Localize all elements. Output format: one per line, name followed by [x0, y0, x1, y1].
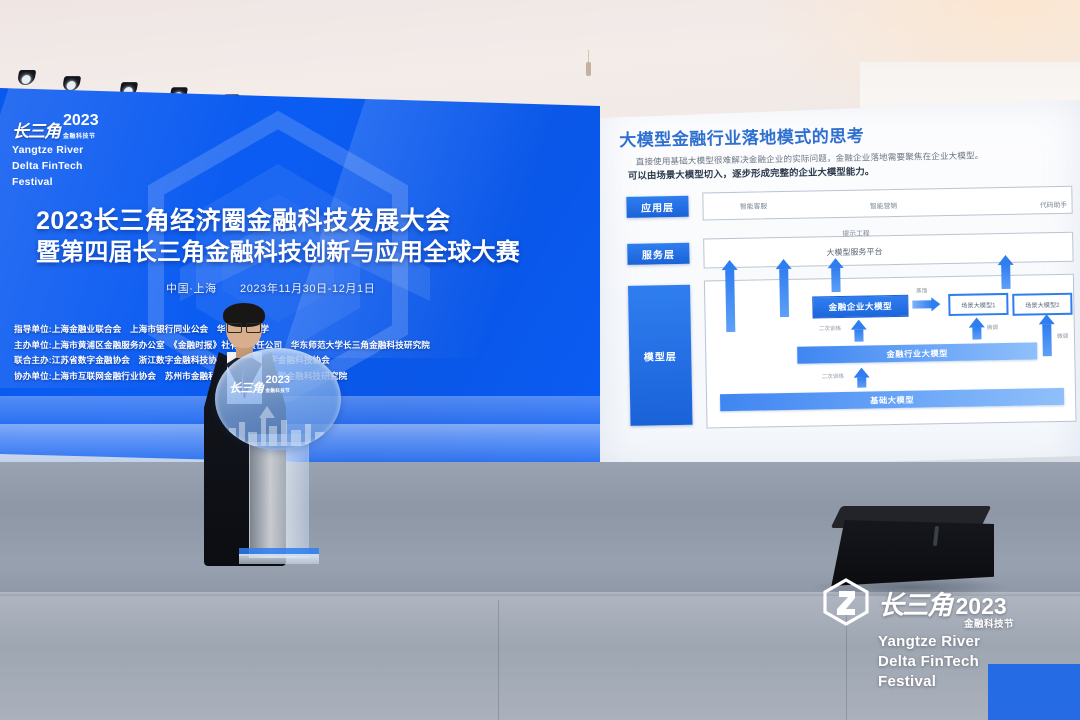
flow-arrow-up — [722, 260, 739, 332]
watermark-year: 2023 — [956, 595, 1007, 618]
application-item: 智能营销 — [848, 200, 918, 211]
festival-logo-cn-sub: 金融科技节 — [63, 131, 99, 140]
podium-emblem: 长三角 2023 金融科技节 — [215, 348, 341, 450]
service-item-platform: 大模型服务平台 — [799, 246, 909, 259]
application-item: 代码助手 — [1028, 199, 1078, 210]
festival-logo-en2: Delta FinTech — [12, 160, 132, 172]
align-label-1: 微调 — [987, 323, 998, 331]
flow-arrow-up — [997, 255, 1014, 289]
watermark-en2: Delta FinTech — [878, 652, 980, 672]
service-item-prompt: 提示工程 — [821, 227, 891, 238]
podium-logo-cn-sub: 金融科技节 — [266, 388, 290, 394]
align-arrow-1 — [969, 317, 985, 339]
align-arrow-2 — [1039, 314, 1056, 356]
flow-arrow-up — [776, 259, 793, 317]
podium-logo-cn: 长三角 — [229, 382, 264, 394]
flow-arrow-up — [828, 258, 845, 292]
podium-logo-year: 2023 — [266, 374, 290, 386]
enterprise-model-box: 金融企业大模型 — [812, 295, 908, 319]
finetune-label-1: 二次训练 — [819, 324, 842, 332]
podium-base — [239, 554, 319, 564]
event-title-line1: 2023长三角经济圈金融科技发展大会 — [36, 206, 506, 237]
layer-tag-model: 模型层 — [628, 285, 693, 426]
layer-label: 服务层 — [642, 246, 675, 262]
festival-logo: 长三角 2023 金融科技节 Yangtze River Delta FinTe… — [12, 112, 132, 188]
festival-logo-year: 2023 — [63, 112, 99, 129]
watermark-cn: 长三角 — [878, 592, 952, 618]
finetune-label-2: 二次训练 — [822, 372, 845, 380]
finetune-arrow-2 — [854, 367, 870, 387]
align-label-2: 微调 — [1057, 332, 1068, 340]
scene-model-box-2: 场景大模型2 — [1012, 293, 1072, 316]
monitor-handle-slot — [933, 526, 939, 546]
glasses-icon — [227, 323, 261, 331]
podium: 长三角 2023 金融科技节 — [215, 348, 341, 564]
event-dates: 2023年11月30日-12月1日 — [240, 283, 375, 295]
layer-label: 模型层 — [644, 348, 677, 364]
festival-mark-icon — [822, 578, 870, 626]
skyline-icon — [223, 402, 333, 446]
distill-label: 蒸馏 — [916, 286, 927, 294]
application-item: 智能客服 — [718, 200, 788, 211]
event-location-date: 中国·上海 2023年11月30日-12月1日 — [166, 280, 375, 296]
festival-logo-en1: Yangtze River — [12, 144, 132, 156]
distill-arrow — [912, 296, 940, 313]
layer-label: 应用层 — [641, 199, 674, 215]
event-title: 2023长三角经济圈金融科技发展大会 暨第四届长三角金融科技创新与应用全球大赛 — [36, 206, 506, 268]
layer-tag-application: 应用层 — [626, 196, 688, 218]
watermark-en3: Festival — [878, 672, 980, 692]
podium-logo: 长三角 2023 金融科技节 — [229, 370, 329, 394]
pendant-light-1 — [586, 62, 591, 76]
conference-photo: (function(){ var s=document.getElementBy… — [0, 0, 1080, 720]
podium-column — [249, 434, 309, 558]
finetune-arrow-1 — [851, 320, 867, 342]
watermark-cn-sub: 金融科技节 — [964, 616, 1014, 630]
festival-logo-en3: Festival — [12, 176, 132, 188]
festival-logo-cn: 长三角 — [12, 123, 60, 140]
watermark-en1: Yangtze River — [878, 632, 980, 652]
event-title-line2: 暨第四届长三角金融科技创新与应用全球大赛 — [36, 237, 506, 268]
floor-seam — [498, 600, 499, 720]
corner-watermark: 长三角 2023 金融科技节 Yangtze River Delta FinTe… — [822, 576, 1072, 708]
event-location: 中国·上海 — [166, 283, 217, 295]
layer-tag-service: 服务层 — [627, 243, 689, 265]
slide-title: 大模型金融行业落地模式的思考 — [619, 122, 864, 151]
scene-model-box-1: 场景大模型1 — [948, 293, 1008, 316]
presentation-screen: 大模型金融行业落地模式的思考 直接使用基础大模型很难解决金融企业的实际问题，金融… — [600, 100, 1080, 470]
